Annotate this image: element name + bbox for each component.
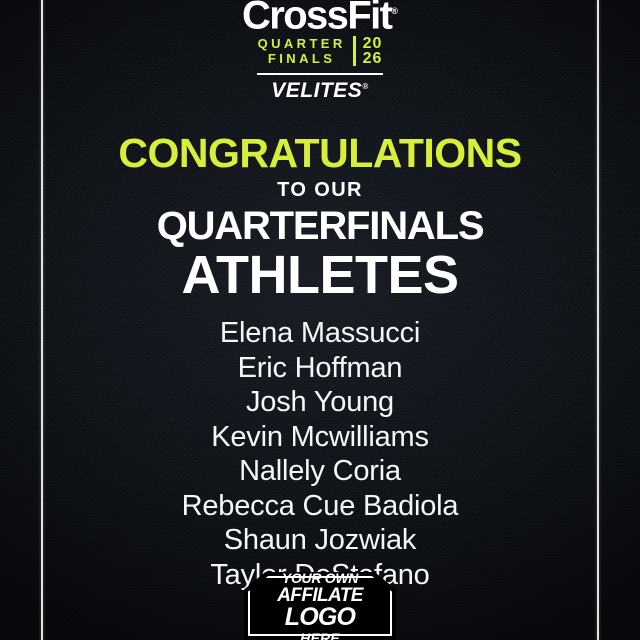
to-our-subtitle: TO OUR (277, 178, 363, 202)
quarterfinals-year-row: QUARTER FINALS 20 26 (0, 36, 640, 66)
crossfit-wordmark-text: CrossFit (242, 0, 391, 37)
poster-canvas: CrossFit® QUARTER FINALS 20 26 VELITES® … (0, 0, 640, 640)
list-item: Nallely Coria (239, 454, 401, 489)
affiliate-badge-text: YOUR OWN AFFILATE LOGO HERE (277, 568, 363, 640)
list-item: Elena Massucci (220, 316, 420, 351)
quarterfinals-headline: QUARTERFINALS (157, 204, 484, 248)
velites-wordmark-text: VELITES (271, 79, 362, 102)
crossfit-wordmark: CrossFit® (242, 0, 398, 32)
affiliate-badge-line3: LOGO (277, 605, 363, 630)
crossfit-quarterfinals-lockup: CrossFit® QUARTER FINALS 20 26 VELITES® (0, 0, 640, 103)
affiliate-badge-line1: YOUR OWN (277, 571, 363, 585)
year-bottom: 26 (363, 51, 383, 66)
affiliate-badge-shape: YOUR OWN AFFILATE LOGO HERE (244, 572, 396, 640)
quarterfinals-words: QUARTER FINALS (258, 36, 346, 66)
year-block: 20 26 (363, 36, 383, 66)
athletes-headline: ATHLETES (182, 246, 459, 304)
lockup-divider-line (257, 73, 383, 75)
poster-content: CrossFit® QUARTER FINALS 20 26 VELITES® … (0, 0, 640, 640)
affiliate-badge-line2: AFFILATE (277, 586, 363, 605)
velites-trademark-icon: ® (362, 82, 368, 91)
athlete-name-list: Elena Massucci Eric Hoffman Josh Young K… (182, 316, 459, 592)
list-item: Kevin Mcwilliams (211, 420, 429, 455)
velites-wordmark: VELITES® (0, 79, 640, 103)
affiliate-logo-placeholder: YOUR OWN AFFILATE LOGO HERE (244, 572, 396, 640)
congratulations-headline: CONGRATULATIONS (118, 131, 521, 175)
vertical-divider-bar (353, 36, 356, 66)
list-item: Josh Young (246, 385, 394, 420)
list-item: Shaun Jozwiak (224, 523, 416, 558)
quarter-label: QUARTER (258, 36, 346, 51)
list-item: Rebecca Cue Badiola (182, 489, 459, 524)
finals-label: FINALS (268, 51, 335, 66)
year-top: 20 (363, 36, 383, 51)
list-item: Eric Hoffman (238, 351, 403, 386)
affiliate-badge-line4: HERE (277, 631, 363, 640)
crossfit-trademark-icon: ® (391, 6, 398, 16)
